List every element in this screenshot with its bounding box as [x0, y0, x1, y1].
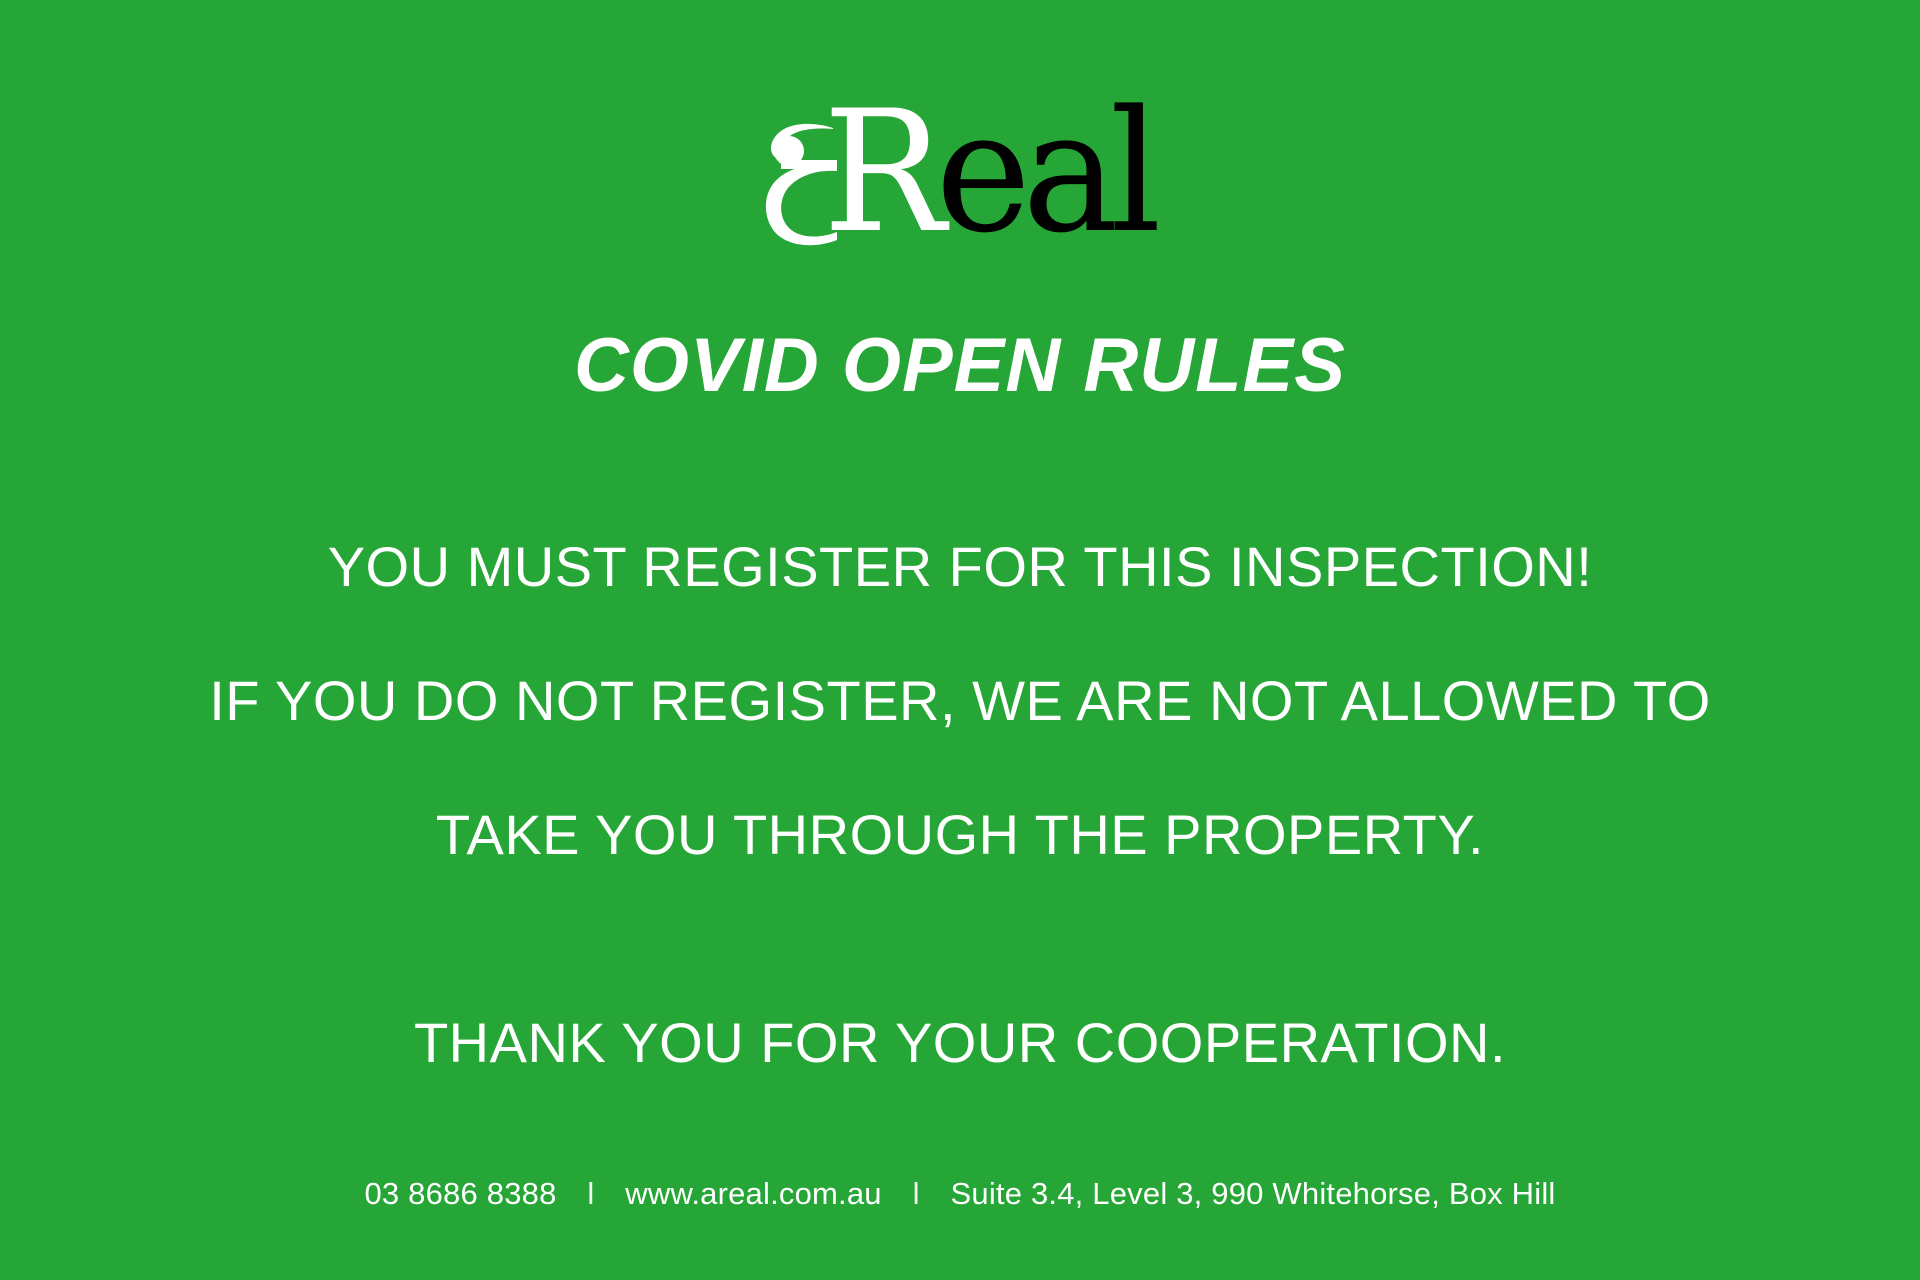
body-line-1: YOU MUST REGISTER FOR THIS INSPECTION! — [0, 500, 1920, 634]
page-title: COVID OPEN RULES — [0, 328, 1920, 404]
body-message: YOU MUST REGISTER FOR THIS INSPECTION! I… — [0, 500, 1920, 1110]
body-gap — [0, 902, 1920, 976]
body-line-4: THANK YOU FOR YOUR COOPERATION. — [0, 976, 1920, 1110]
logo-lockup: R eal — [763, 88, 1158, 248]
footer-website[interactable]: www.areal.com.au — [625, 1176, 881, 1211]
body-line-2: IF YOU DO NOT REGISTER, WE ARE NOT ALLOW… — [0, 634, 1920, 768]
footer-phone: 03 8686 8388 — [364, 1176, 556, 1211]
brand-logo: R eal — [0, 78, 1920, 248]
contact-footer: 03 8686 8388 l www.areal.com.au l Suite … — [0, 1176, 1920, 1212]
footer-separator-1: l — [565, 1176, 616, 1212]
logo-letter-R: R — [822, 88, 935, 256]
logo-letters-eal: eal — [936, 88, 1153, 256]
footer-address: Suite 3.4, Level 3, 990 Whitehorse, Box … — [951, 1176, 1556, 1211]
body-line-3: TAKE YOU THROUGH THE PROPERTY. — [0, 768, 1920, 902]
footer-separator-2: l — [891, 1176, 942, 1212]
poster-canvas: R eal COVID OPEN RULES YOU MUST REGISTER… — [0, 0, 1920, 1280]
